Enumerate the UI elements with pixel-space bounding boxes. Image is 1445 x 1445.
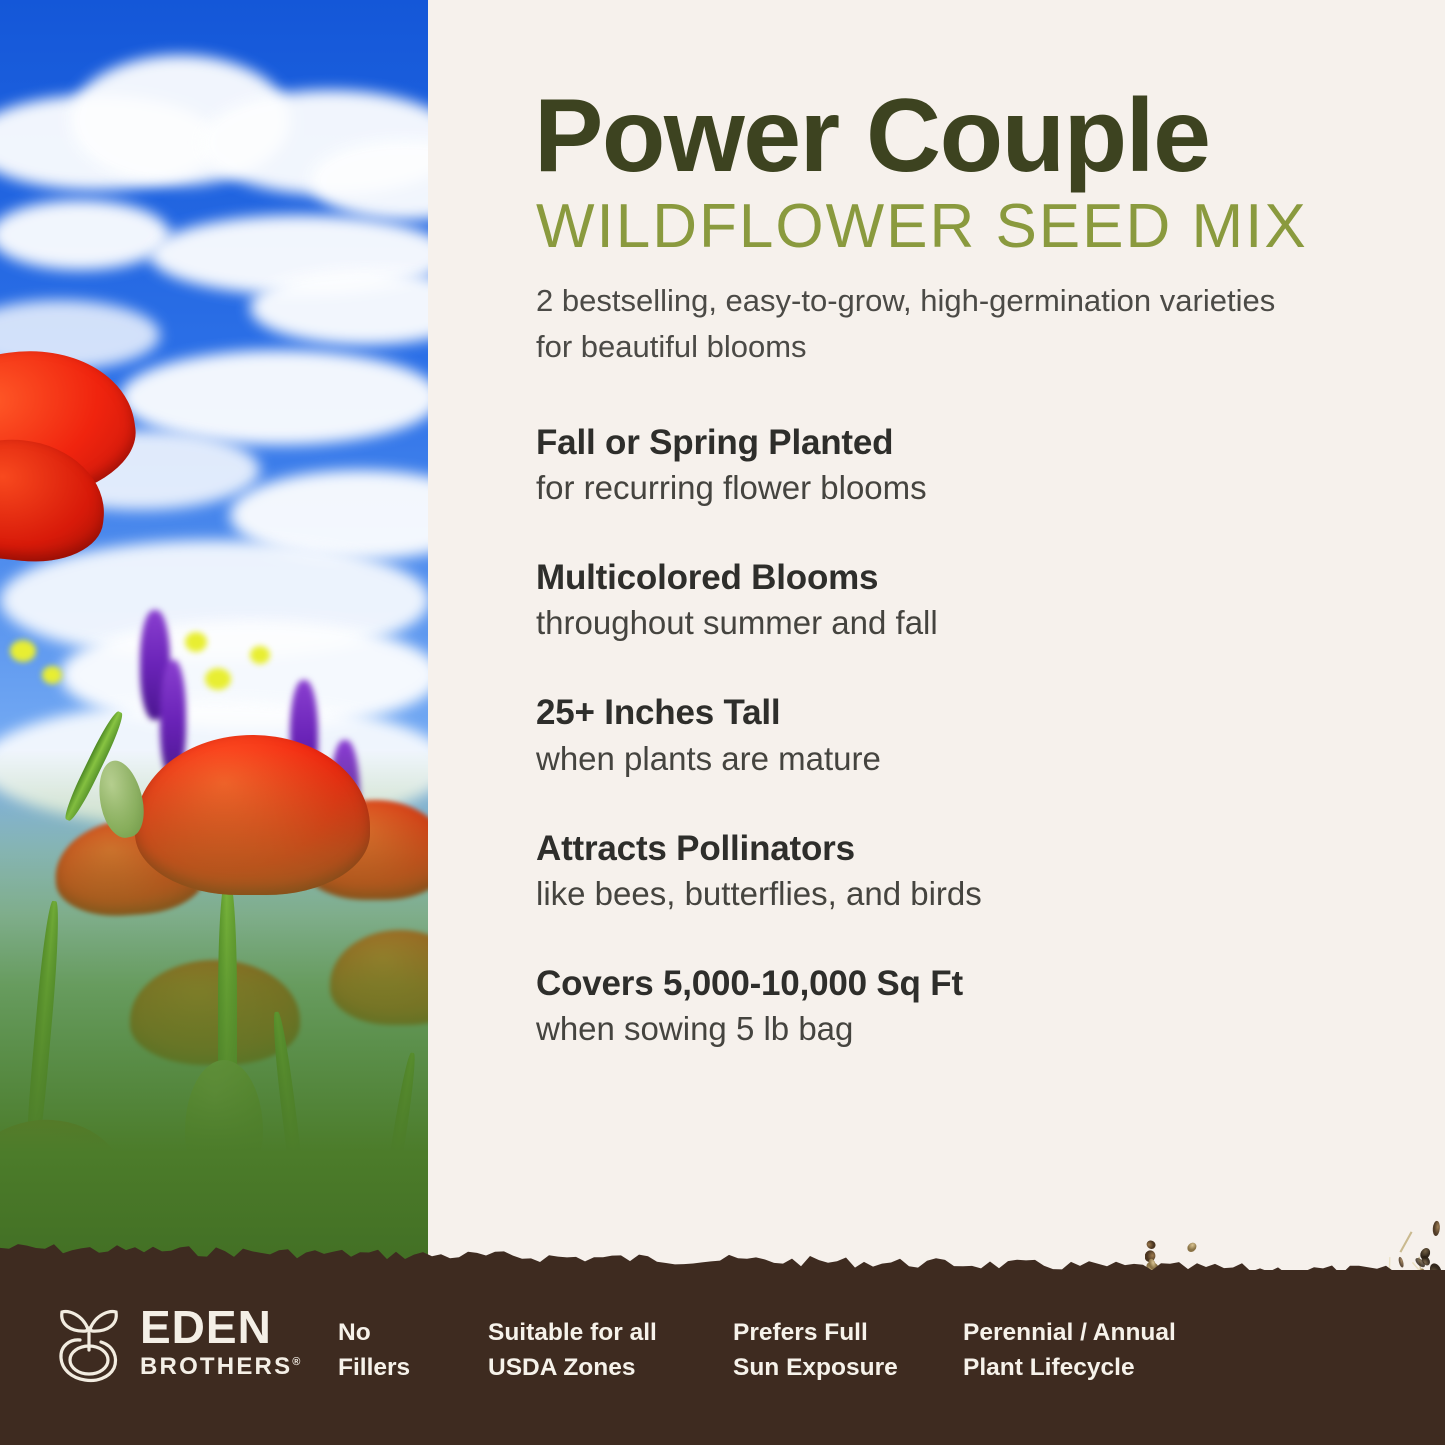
feature-item: Fall or Spring Planted for recurring flo…	[536, 422, 1296, 510]
badge-line2: Fillers	[338, 1351, 488, 1386]
brand-wordmark: EDEN BROTHERS®	[140, 1304, 303, 1379]
feature-subtext: when plants are mature	[536, 738, 1296, 781]
cloud-shape	[0, 200, 170, 270]
meadow-foliage	[0, 750, 428, 1310]
feature-heading: 25+ Inches Tall	[536, 692, 1296, 733]
feature-subtext: when sowing 5 lb bag	[536, 1008, 1296, 1051]
product-description: 2 bestselling, easy-to-grow, high-germin…	[536, 278, 1276, 370]
feature-item: Attracts Pollinators like bees, butterfl…	[536, 828, 1296, 916]
brand-name-line2: BROTHERS®	[140, 1355, 303, 1379]
badge-line2: USDA Zones	[488, 1351, 733, 1386]
feature-subtext: throughout summer and fall	[536, 602, 1296, 645]
badge-line1: No	[338, 1319, 371, 1346]
badge-line2: Plant Lifecycle	[963, 1351, 1223, 1386]
badge-usda-zones: Suitable for all USDA Zones	[488, 1316, 733, 1386]
feature-subtext: like bees, butterflies, and birds	[536, 873, 1296, 916]
footer-bar: EDEN BROTHERS® No Fillers Suitable for a…	[0, 1270, 1445, 1445]
badge-sun-exposure: Prefers Full Sun Exposure	[733, 1316, 963, 1386]
feature-item: 25+ Inches Tall when plants are mature	[536, 692, 1296, 780]
badge-line1: Perennial / Annual	[963, 1319, 1176, 1346]
feature-item: Covers 5,000-10,000 Sq Ft when sowing 5 …	[536, 963, 1296, 1051]
feature-list: Fall or Spring Planted for recurring flo…	[536, 422, 1296, 1098]
feature-heading: Multicolored Blooms	[536, 557, 1296, 598]
brand-logo[interactable]: EDEN BROTHERS®	[52, 1298, 303, 1384]
feature-heading: Fall or Spring Planted	[536, 422, 1296, 463]
feature-subtext: for recurring flower blooms	[536, 467, 1296, 510]
badge-line2: Sun Exposure	[733, 1351, 963, 1386]
feature-item: Multicolored Blooms throughout summer an…	[536, 557, 1296, 645]
product-infographic: Power Couple WILDFLOWER SEED MIX 2 bests…	[0, 0, 1445, 1445]
badge-no-fillers: No Fillers	[338, 1316, 488, 1386]
feature-heading: Covers 5,000-10,000 Sq Ft	[536, 963, 1296, 1004]
registered-mark: ®	[292, 1356, 302, 1368]
brand-name-line1: EDEN	[140, 1304, 303, 1350]
page-title: Power Couple	[534, 84, 1209, 188]
badge-line1: Prefers Full	[733, 1319, 868, 1346]
sprout-seed-icon	[52, 1298, 126, 1384]
feature-heading: Attracts Pollinators	[536, 828, 1296, 869]
feature-badges: No Fillers Suitable for all USDA Zones P…	[338, 1316, 1223, 1386]
badge-plant-lifecycle: Perennial / Annual Plant Lifecycle	[963, 1316, 1223, 1386]
badge-line1: Suitable for all	[488, 1319, 657, 1346]
product-subtitle: WILDFLOWER SEED MIX	[536, 196, 1308, 258]
wildflower-meadow-photo	[0, 0, 428, 1310]
